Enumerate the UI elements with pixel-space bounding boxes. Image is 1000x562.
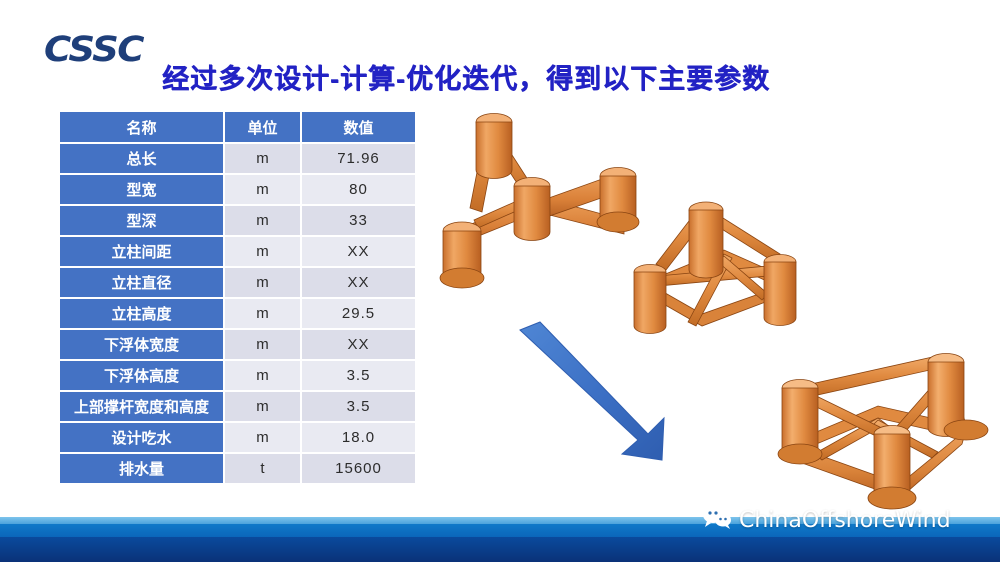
table-cell-name: 型深	[60, 206, 223, 235]
slide-title: 经过多次设计-计算-优化迭代，得到以下主要参数	[162, 57, 862, 96]
table-row: 下浮体宽度mXX	[60, 330, 415, 359]
platform-geometry-1	[440, 114, 639, 289]
table-cell-name: 立柱间距	[60, 237, 223, 266]
table-cell-name: 立柱直径	[60, 268, 223, 297]
table-cell-value: XX	[300, 268, 415, 297]
table-header-unit: 单位	[223, 112, 300, 142]
parameters-table-body: 名称 单位 数值 总长m71.96型宽m80型深m33立柱间距mXX立柱直径mX…	[60, 112, 415, 483]
table-cell-unit: m	[223, 423, 300, 452]
table-cell-name: 总长	[60, 144, 223, 173]
platform-geometry-3	[778, 354, 988, 510]
table-row: 总长m71.96	[60, 144, 415, 173]
table-cell-unit: m	[223, 144, 300, 173]
table-cell-name: 下浮体高度	[60, 361, 223, 390]
platform-geometry-2	[634, 202, 796, 334]
arrow-shape	[520, 322, 664, 460]
wechat-icon	[702, 505, 732, 535]
table-cell-unit: m	[223, 268, 300, 297]
table-cell-value: 29.5	[300, 299, 415, 328]
floating-platform-render-2	[628, 190, 840, 340]
table-cell-value: 3.5	[300, 392, 415, 421]
table-cell-unit: m	[223, 330, 300, 359]
table-row: 立柱高度m29.5	[60, 299, 415, 328]
table-row: 下浮体高度m3.5	[60, 361, 415, 390]
table-cell-name: 下浮体宽度	[60, 330, 223, 359]
table-cell-unit: m	[223, 361, 300, 390]
table-cell-name: 设计吃水	[60, 423, 223, 452]
table-cell-value: XX	[300, 330, 415, 359]
table-row: 排水量t15600	[60, 454, 415, 483]
table-row: 设计吃水m18.0	[60, 423, 415, 452]
table-cell-value: 18.0	[300, 423, 415, 452]
table-row: 立柱间距mXX	[60, 237, 415, 266]
table-row: 立柱直径mXX	[60, 268, 415, 297]
table-row: 型宽m80	[60, 175, 415, 204]
table-cell-value: 15600	[300, 454, 415, 483]
table-cell-name: 型宽	[60, 175, 223, 204]
parameters-table: 名称 单位 数值 总长m71.96型宽m80型深m33立柱间距mXX立柱直径mX…	[60, 110, 415, 485]
table-cell-value: 33	[300, 206, 415, 235]
table-header-value: 数值	[300, 112, 415, 142]
table-cell-unit: m	[223, 175, 300, 204]
watermark: ChinaOffshoreWind	[702, 505, 951, 535]
table-row: 上部撑杆宽度和高度m3.5	[60, 392, 415, 421]
table-header-name: 名称	[60, 112, 223, 142]
table-cell-name: 立柱高度	[60, 299, 223, 328]
table-cell-value: 71.96	[300, 144, 415, 173]
slide-canvas: CSSC 经过多次设计-计算-优化迭代，得到以下主要参数 名称 单位 数值 总长…	[0, 0, 1000, 562]
table-cell-unit: m	[223, 392, 300, 421]
table-row: 型深m33	[60, 206, 415, 235]
table-cell-value: XX	[300, 237, 415, 266]
table-cell-value: 80	[300, 175, 415, 204]
banner-stripe-deep	[0, 537, 1000, 562]
cssc-logo: CSSC	[44, 30, 164, 70]
table-cell-unit: m	[223, 206, 300, 235]
table-cell-name: 排水量	[60, 454, 223, 483]
table-cell-name: 上部撑杆宽度和高度	[60, 392, 223, 421]
table-cell-unit: m	[223, 299, 300, 328]
table-cell-unit: m	[223, 237, 300, 266]
table-header-row: 名称 单位 数值	[60, 112, 415, 142]
table-cell-value: 3.5	[300, 361, 415, 390]
watermark-label: ChinaOffshoreWind	[739, 508, 951, 533]
table-cell-unit: t	[223, 454, 300, 483]
cssc-logo-text: CSSC	[44, 30, 171, 70]
